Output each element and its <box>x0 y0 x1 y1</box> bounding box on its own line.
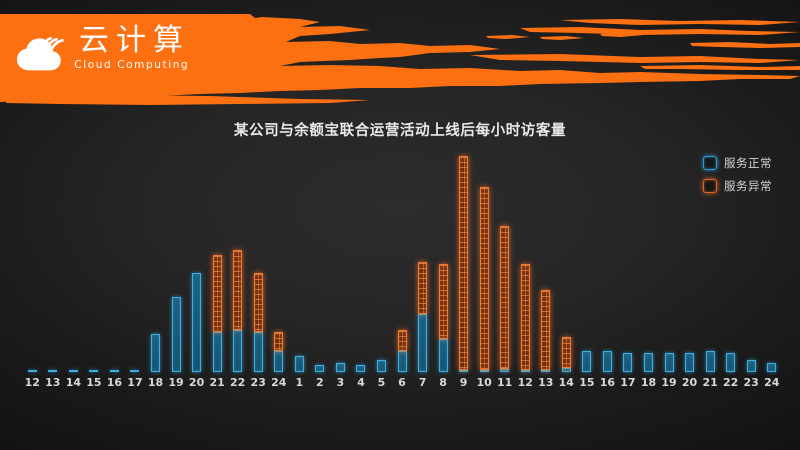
bar-segment-normal <box>69 370 78 372</box>
x-axis-tick-label: 14 <box>556 376 577 389</box>
bar-column[interactable] <box>69 370 78 372</box>
bar-column[interactable] <box>28 370 37 372</box>
bar-segment-texture <box>566 338 567 367</box>
bar-segment-normal <box>747 360 756 372</box>
bar-segment-normal <box>439 339 448 372</box>
bar-column[interactable] <box>151 334 160 372</box>
bar-column[interactable] <box>89 370 98 372</box>
bar-segment-normal <box>28 370 37 372</box>
bar-segment-normal <box>459 370 468 372</box>
bar-column[interactable] <box>562 337 571 372</box>
x-axis-tick-label: 14 <box>63 376 84 389</box>
x-axis-tick-label: 7 <box>412 376 433 389</box>
bar-column[interactable] <box>603 351 612 372</box>
bar-segment-normal <box>623 353 632 372</box>
bar-segment-normal <box>480 370 489 372</box>
bar-segment-normal <box>685 353 694 372</box>
chart-title: 某公司与余额宝联合运营活动上线后每小时访客量 <box>0 119 800 140</box>
x-axis-tick-label: 13 <box>43 376 64 389</box>
x-axis-tick-label: 2 <box>310 376 331 389</box>
bar-segment-normal <box>665 353 674 372</box>
x-axis-tick-label: 16 <box>597 376 618 389</box>
x-axis-tick-label: 22 <box>720 376 741 389</box>
bar-segment-normal <box>213 332 222 372</box>
x-axis-tick-label: 23 <box>741 376 762 389</box>
bar-segment-normal <box>767 363 776 372</box>
bar-segment-normal <box>377 360 386 372</box>
bar-column[interactable] <box>233 250 242 372</box>
bar-segment-normal <box>254 332 263 372</box>
bar-column[interactable] <box>192 273 201 372</box>
bar-column[interactable] <box>254 273 263 372</box>
bar-segment-normal <box>172 297 181 372</box>
bar-segment-normal <box>233 330 242 372</box>
bar-column[interactable] <box>500 226 509 372</box>
bar-column[interactable] <box>398 330 407 372</box>
x-axis-tick-label: 5 <box>371 376 392 389</box>
bar-column[interactable] <box>582 351 591 372</box>
x-axis-tick-label: 11 <box>494 376 515 389</box>
bar-segment-normal <box>541 370 550 372</box>
bar-column[interactable] <box>767 363 776 372</box>
bar-column[interactable] <box>439 264 448 372</box>
bar-column[interactable] <box>623 353 632 372</box>
bar-segment-normal <box>89 370 98 372</box>
x-axis-tick-label: 18 <box>638 376 659 389</box>
bar-segment-normal <box>110 370 119 372</box>
bar-segment-abnormal <box>541 290 550 370</box>
x-axis-labels: 1213141516171819202122232412345678910111… <box>22 376 782 394</box>
bar-segment-abnormal <box>398 330 407 351</box>
bar-column[interactable] <box>213 255 222 372</box>
bar-segment-normal <box>726 353 735 372</box>
x-axis-tick-label: 20 <box>186 376 207 389</box>
bar-segment-normal <box>398 351 407 372</box>
bar-column[interactable] <box>377 360 386 372</box>
bar-column[interactable] <box>665 353 674 372</box>
bar-chart-plot-area <box>22 150 782 372</box>
x-axis-tick-label: 12 <box>515 376 536 389</box>
bar-segment-normal <box>356 365 365 372</box>
x-axis-tick-label: 4 <box>351 376 372 389</box>
bar-segment-normal <box>336 363 345 372</box>
bar-segment-abnormal <box>418 262 427 314</box>
x-axis-tick-label: 23 <box>248 376 269 389</box>
bar-segment-normal <box>706 351 715 372</box>
bar-column[interactable] <box>172 297 181 372</box>
x-axis-tick-label: 17 <box>618 376 639 389</box>
bar-segment-normal <box>315 365 324 372</box>
bar-segment-normal <box>151 334 160 372</box>
bar-segment-normal <box>562 368 571 372</box>
bar-segment-abnormal <box>213 255 222 332</box>
bar-segment-normal <box>644 353 653 372</box>
bar-segment-texture <box>505 227 506 368</box>
bar-column[interactable] <box>644 353 653 372</box>
bar-segment-normal <box>603 351 612 372</box>
x-axis-tick-label: 18 <box>145 376 166 389</box>
bar-segment-texture <box>484 188 485 369</box>
bar-segment-abnormal <box>500 226 509 369</box>
bar-segment-abnormal <box>439 264 448 339</box>
bar-column[interactable] <box>295 356 304 372</box>
x-axis-tick-label: 10 <box>474 376 495 389</box>
bar-segment-abnormal <box>274 332 283 351</box>
bar-segment-abnormal <box>459 156 468 370</box>
bar-column[interactable] <box>726 353 735 372</box>
x-axis-tick-label: 6 <box>392 376 413 389</box>
bar-segment-texture <box>217 256 218 331</box>
x-axis-tick-label: 20 <box>679 376 700 389</box>
bar-segment-texture <box>525 265 526 369</box>
bar-column[interactable] <box>418 262 427 372</box>
bar-column[interactable] <box>685 353 694 372</box>
bar-column[interactable] <box>336 363 345 372</box>
bar-segment-texture <box>546 291 547 369</box>
bar-segment-normal <box>274 351 283 372</box>
x-axis-tick-label: 17 <box>125 376 146 389</box>
bar-segment-normal <box>582 351 591 372</box>
bar-segment-texture <box>238 251 239 329</box>
bar-segment-abnormal <box>254 273 263 332</box>
bar-column[interactable] <box>315 365 324 372</box>
x-axis-tick-label: 19 <box>166 376 187 389</box>
x-axis-tick-label: 12 <box>22 376 43 389</box>
bar-segment-normal <box>521 370 530 372</box>
bar-segment-texture <box>258 274 259 331</box>
bar-segment-abnormal <box>521 264 530 370</box>
bar-column[interactable] <box>459 156 468 372</box>
bar-segment-texture <box>279 333 280 350</box>
bar-segment-abnormal <box>562 337 571 368</box>
bar-segment-normal <box>500 369 509 372</box>
x-axis-tick-label: 21 <box>700 376 721 389</box>
bar-column[interactable] <box>541 290 550 372</box>
x-axis-tick-label: 8 <box>433 376 454 389</box>
bar-segment-normal <box>295 356 304 372</box>
bar-column[interactable] <box>274 332 283 372</box>
bar-segment-normal <box>130 370 139 372</box>
bar-segment-abnormal <box>233 250 242 330</box>
bar-column[interactable] <box>706 351 715 372</box>
bar-segment-texture <box>464 157 465 369</box>
bar-column[interactable] <box>130 370 139 372</box>
bar-segment-abnormal <box>480 187 489 370</box>
bar-column[interactable] <box>747 360 756 372</box>
bar-column[interactable] <box>110 370 119 372</box>
bar-column[interactable] <box>521 264 530 372</box>
bar-column[interactable] <box>480 187 489 372</box>
bar-column[interactable] <box>356 365 365 372</box>
x-axis-tick-label: 16 <box>104 376 125 389</box>
bar-segment-normal <box>418 314 427 372</box>
x-axis-tick-label: 22 <box>227 376 248 389</box>
x-axis-tick-label: 3 <box>330 376 351 389</box>
x-axis-tick-label: 1 <box>289 376 310 389</box>
bar-segment-texture <box>443 265 444 338</box>
x-axis-tick-label: 15 <box>84 376 105 389</box>
x-axis-tick-label: 13 <box>536 376 557 389</box>
x-axis-tick-label: 24 <box>268 376 289 389</box>
x-axis-tick-label: 24 <box>761 376 782 389</box>
bar-column[interactable] <box>48 370 57 372</box>
x-axis-tick-label: 9 <box>453 376 474 389</box>
x-axis-tick-label: 21 <box>207 376 228 389</box>
bar-segment-normal <box>192 273 201 372</box>
bar-segment-texture <box>402 331 403 350</box>
bar-segment-texture <box>423 263 424 313</box>
bar-segment-normal <box>48 370 57 372</box>
x-axis-tick-label: 15 <box>577 376 598 389</box>
x-axis-tick-label: 19 <box>659 376 680 389</box>
